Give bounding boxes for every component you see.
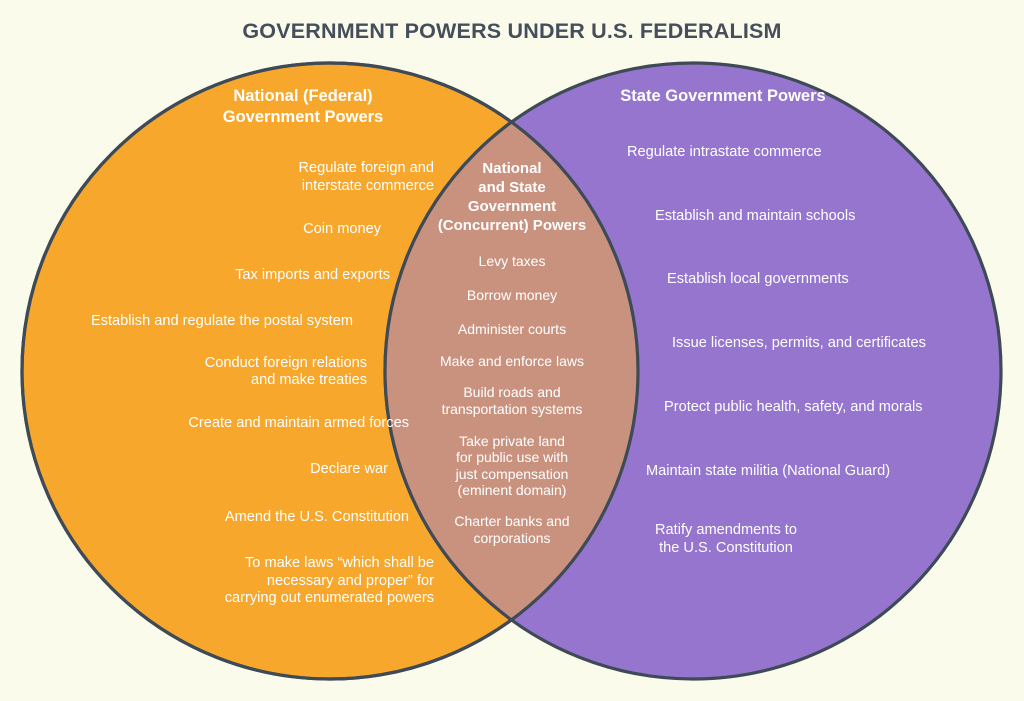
state-item-4: Issue licenses, permits, and certificate… (592, 335, 1004, 353)
federal-item-4: Establish and regulate the postal system (22, 313, 434, 331)
federal-item-5: Conduct foreign relations and make treat… (22, 355, 434, 390)
state-heading: State Government Powers (592, 86, 1004, 107)
federal-item-2: Coin money (22, 221, 434, 239)
state-item-2: Establish and maintain schools (592, 208, 1004, 226)
federal-item-8: Amend the U.S. Constitution (22, 509, 434, 527)
federal-item-9: To make laws “which shall be necessary a… (22, 555, 434, 608)
state-powers-column: State Government Powers Regulate intrast… (592, 86, 1004, 557)
state-item-7: Ratify amendments to the U.S. Constituti… (592, 522, 846, 557)
federal-item-7: Declare war (22, 461, 434, 479)
federal-item-6: Create and maintain armed forces (22, 415, 434, 433)
federal-heading: National (Federal) Government Powers (22, 86, 434, 128)
federal-item-3: Tax imports and exports (22, 267, 434, 285)
state-item-1: Regulate intrastate commerce (592, 144, 1004, 162)
state-item-5: Protect public health, safety, and moral… (592, 399, 1004, 417)
federal-item-1: Regulate foreign and interstate commerce (22, 160, 434, 195)
venn-diagram-figure: GOVERNMENT POWERS UNDER U.S. FEDERALISM … (0, 0, 1024, 701)
state-item-3: Establish local governments (592, 271, 1004, 289)
federal-powers-column: National (Federal) Government Powers Reg… (22, 86, 434, 608)
state-item-6: Maintain state militia (National Guard) (592, 463, 1004, 481)
